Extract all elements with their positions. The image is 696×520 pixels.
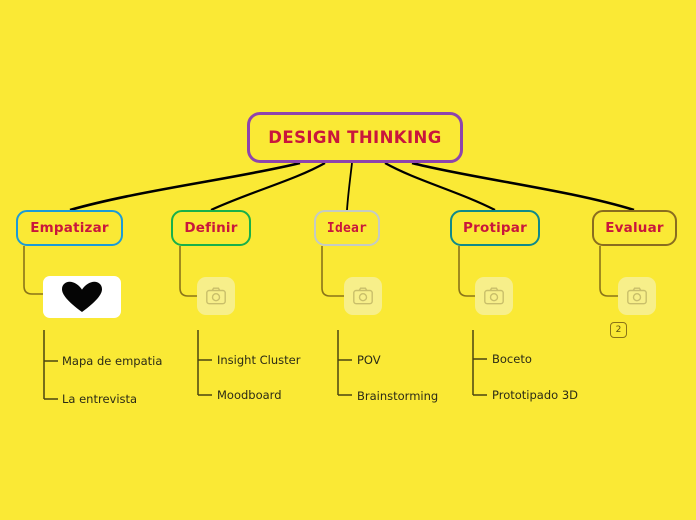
attachment-image-protipar[interactable] [475,277,513,315]
sub-item-boceto[interactable]: Boceto [492,352,532,366]
branch-label-empatizar: Empatizar [30,220,109,236]
sub-item-moodboard[interactable]: Moodboard [217,388,282,402]
camera-icon [206,287,226,305]
sub-item-prototipado-3d[interactable]: Prototipado 3D [492,388,578,402]
branch-node-idear[interactable]: Idear [314,210,380,246]
branch-label-protipar: Protipar [463,220,527,236]
branch-node-definir[interactable]: Definir [171,210,251,246]
heart-icon [61,281,103,313]
camera-icon [353,287,373,305]
attachment-image-evaluar[interactable] [618,277,656,315]
attachment-image-idear[interactable] [344,277,382,315]
camera-icon [627,287,647,305]
root-node-label: DESIGN THINKING [268,128,441,147]
sub-item-pov[interactable]: POV [357,353,381,367]
branch-label-idear: Idear [327,221,367,236]
branch-label-definir: Definir [184,220,237,236]
sub-item-la-entrevista[interactable]: La entrevista [62,392,137,406]
attachment-count-badge-evaluar[interactable]: 2 [610,322,627,338]
root-node[interactable]: DESIGN THINKING [247,112,463,163]
branch-node-empatizar[interactable]: Empatizar [16,210,123,246]
camera-icon [484,287,504,305]
attachment-image-definir[interactable] [197,277,235,315]
connector-lines [0,0,696,520]
branch-label-evaluar: Evaluar [605,220,664,236]
sub-item-mapa-de-empatia[interactable]: Mapa de empatia [62,354,162,368]
branch-node-protipar[interactable]: Protipar [450,210,540,246]
sub-item-brainstorming[interactable]: Brainstorming [357,389,438,403]
mindmap-canvas: DESIGN THINKING Empatizar Definir Idear … [0,0,696,520]
attachment-image-empatizar[interactable] [43,276,121,318]
branch-node-evaluar[interactable]: Evaluar [592,210,677,246]
sub-item-insight-cluster[interactable]: Insight Cluster [217,353,300,367]
